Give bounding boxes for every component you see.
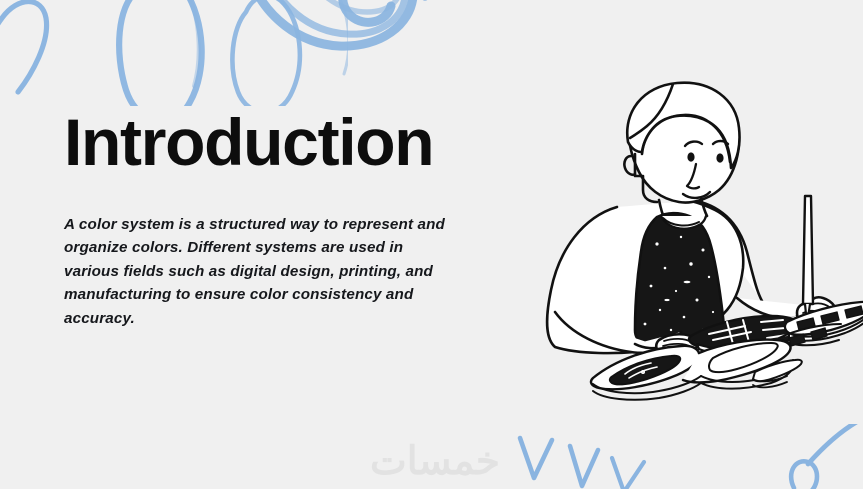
slide-canvas: Introduction A color system is a structu… [0,0,863,489]
body-paragraph: A color system is a structured way to re… [64,213,456,330]
site-watermark: خمسات [370,441,500,483]
blue-loop-scribble [0,0,348,111]
page-title: Introduction [64,104,464,180]
text-column: Introduction A color system is a structu… [64,104,464,330]
blue-swirl-scribble [243,0,433,79]
person-with-color-swatches-illustration [531,72,863,402]
blue-zigzag-scribble [494,424,863,489]
